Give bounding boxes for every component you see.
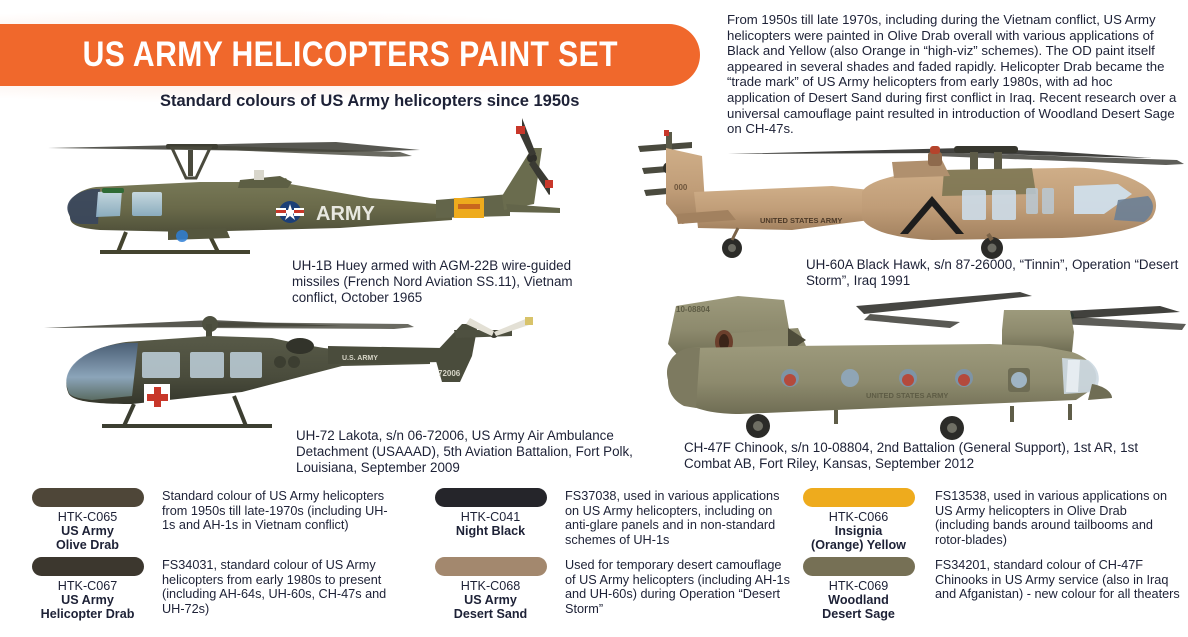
paint-description: Used for temporary desert camouflage of … — [563, 555, 794, 627]
paint-name-line2: Olive Drab — [15, 538, 160, 552]
hawk-cabin-window — [962, 190, 986, 220]
paint-name-line1: US Army — [15, 524, 160, 538]
lakota-cockpit-glass — [66, 343, 138, 400]
artwork-uh72-lakota: U.S. ARMY 72006 — [42, 300, 542, 435]
hawk-tail-number: 000 — [674, 183, 688, 192]
chinook-fuselage — [670, 344, 1097, 414]
paint-description: FS37038, used in various applications on… — [563, 486, 794, 558]
paint-chip-block: HTK-C067 US Army Helicopter Drab — [15, 555, 160, 627]
paint-entry[interactable]: HTK-C065 US Army Olive Drab Standard col… — [0, 486, 396, 558]
paint-chip-block: HTK-C069 Woodland Desert Sage — [786, 555, 931, 627]
paint-code: HTK-C065 — [15, 510, 160, 524]
paint-chip-swatch — [32, 557, 144, 576]
hawk-engine-deck — [942, 168, 1036, 196]
paint-entry[interactable]: HTK-C067 US Army Helicopter Drab FS34031… — [0, 555, 396, 627]
page-title: US ARMY HELICOPTERS PAINT SET — [82, 35, 617, 75]
paint-name-line1: Woodland — [786, 593, 931, 607]
paint-name-line2: Helicopter Drab — [15, 607, 160, 621]
paint-column-1: HTK-C065 US Army Olive Drab Standard col… — [0, 482, 396, 637]
title-banner: US ARMY HELICOPTERS PAINT SET — [0, 24, 700, 86]
paint-column-3: HTK-C066 Insignia (Orange) Yellow FS1353… — [786, 482, 1182, 637]
artwork-uh1b-huey: ARMY — [40, 112, 570, 262]
paint-code: HTK-C041 — [418, 510, 563, 524]
lakota-army-marking: U.S. ARMY — [342, 355, 378, 362]
chinook-tail-number: 10-08804 — [676, 305, 710, 314]
paint-name-line2: (Orange) Yellow — [786, 538, 931, 552]
artwork-ch47f-chinook: 10-08804 UNITED ST — [660, 288, 1188, 440]
paint-name-line2: Desert Sand — [418, 607, 563, 621]
paint-name-line1: US Army — [418, 593, 563, 607]
paint-chip-block: HTK-C066 Insignia (Orange) Yellow — [786, 486, 931, 558]
lakota-red-cross-marking — [144, 384, 170, 410]
paint-entry[interactable]: HTK-C066 Insignia (Orange) Yellow FS1353… — [786, 486, 1182, 558]
paint-entry[interactable]: HTK-C069 Woodland Desert Sage FS34201, s… — [786, 555, 1182, 627]
lakota-cabin-window — [142, 352, 180, 378]
paint-chip-swatch — [435, 488, 547, 507]
paint-code: HTK-C067 — [15, 579, 160, 593]
caption-black-hawk: UH-60A Black Hawk, s/n 87-26000, “Tinnin… — [806, 257, 1186, 289]
huey-nose-glass — [67, 189, 100, 224]
paint-chip-block: HTK-C041 Night Black — [418, 486, 563, 558]
huey-army-marking: ARMY — [316, 203, 376, 225]
paint-description: FS34031, standard colour of US Army heli… — [160, 555, 396, 627]
paint-name-line1: Night Black — [418, 524, 563, 538]
paint-chip-swatch — [435, 557, 547, 576]
subtitle: Standard colours of US Army helicopters … — [160, 92, 579, 111]
paint-name-line1: US Army — [15, 593, 160, 607]
paint-entry[interactable]: HTK-C068 US Army Desert Sand Used for te… — [398, 555, 794, 627]
paint-chip-block: HTK-C068 US Army Desert Sand — [418, 555, 563, 627]
paint-entry[interactable]: HTK-C041 Night Black FS37038, used in va… — [398, 486, 794, 558]
paint-code: HTK-C069 — [786, 579, 931, 593]
artwork-uh60a-black-hawk: UNITED STATES ARMY 000 — [632, 128, 1188, 258]
paint-code: HTK-C066 — [786, 510, 931, 524]
intro-paragraph: From 1950s till late 1970s, including du… — [727, 12, 1179, 137]
paint-column-2: HTK-C041 Night Black FS37038, used in va… — [398, 482, 794, 637]
chinook-army-marking: UNITED STATES ARMY — [866, 391, 948, 400]
lakota-tail-number: 72006 — [438, 369, 461, 378]
paint-chip-block: HTK-C065 US Army Olive Drab — [15, 486, 160, 558]
paint-description: FS13538, used in various applications on… — [931, 486, 1182, 558]
caption-chinook: CH-47F Chinook, s/n 10-08804, 2nd Battal… — [684, 440, 1184, 472]
paint-description: FS34201, standard colour of CH-47F Chino… — [931, 555, 1182, 627]
paint-chip-swatch — [32, 488, 144, 507]
paint-chip-swatch — [803, 488, 915, 507]
huey-cabin-window — [132, 192, 162, 216]
paint-chip-swatch — [803, 557, 915, 576]
paint-name-line1: Insignia — [786, 524, 931, 538]
caption-lakota: UH-72 Lakota, s/n 06-72006, US Army Air … — [296, 428, 666, 476]
paint-code: HTK-C068 — [418, 579, 563, 593]
paint-swatch-panel: HTK-C065 US Army Olive Drab Standard col… — [0, 482, 1188, 637]
caption-huey: UH-1B Huey armed with AGM-22B wire-guide… — [292, 258, 612, 306]
paint-description: Standard colour of US Army helicopters f… — [160, 486, 396, 558]
poster-page: US ARMY HELICOPTERS PAINT SET Standard c… — [0, 0, 1188, 637]
paint-name-line2: Desert Sage — [786, 607, 931, 621]
hawk-army-marking: UNITED STATES ARMY — [760, 216, 842, 225]
